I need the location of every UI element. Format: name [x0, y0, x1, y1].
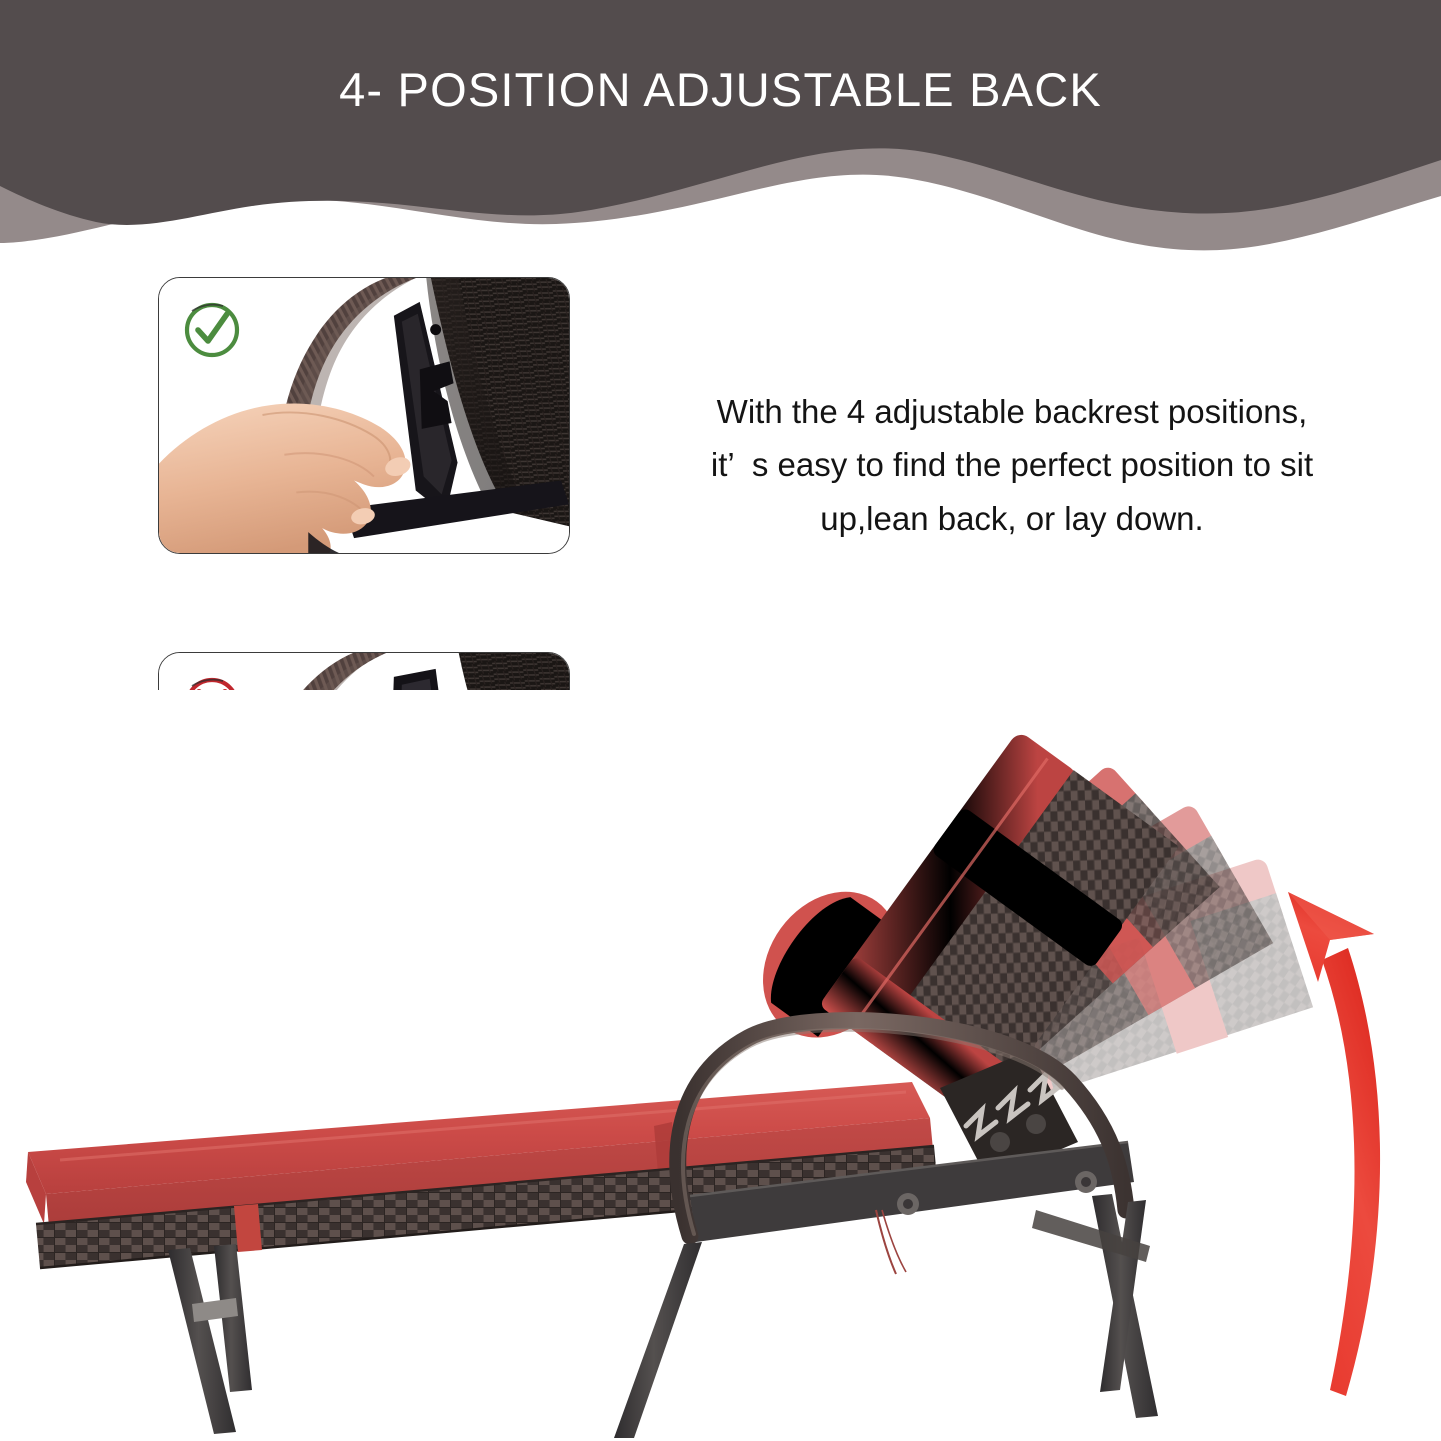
- banner-wave-shapes: [0, 0, 1441, 265]
- description-line-1: With the 4 adjustable backrest positions…: [612, 385, 1412, 438]
- description-text: With the 4 adjustable backrest positions…: [612, 385, 1412, 545]
- check-circle-icon: [179, 296, 245, 362]
- infographic-canvas: 4- POSITION ADJUSTABLE BACK: [0, 0, 1441, 1441]
- product-image-chaise-lounge: [0, 690, 1441, 1441]
- page-title: 4- POSITION ADJUSTABLE BACK: [0, 62, 1441, 117]
- callout-correct-grip: [158, 277, 570, 554]
- description-line-3: up,lean back, or lay down.: [612, 492, 1412, 545]
- description-line-2: it’ s easy to find the perfect position …: [612, 438, 1412, 491]
- header-banner: 4- POSITION ADJUSTABLE BACK: [0, 0, 1441, 265]
